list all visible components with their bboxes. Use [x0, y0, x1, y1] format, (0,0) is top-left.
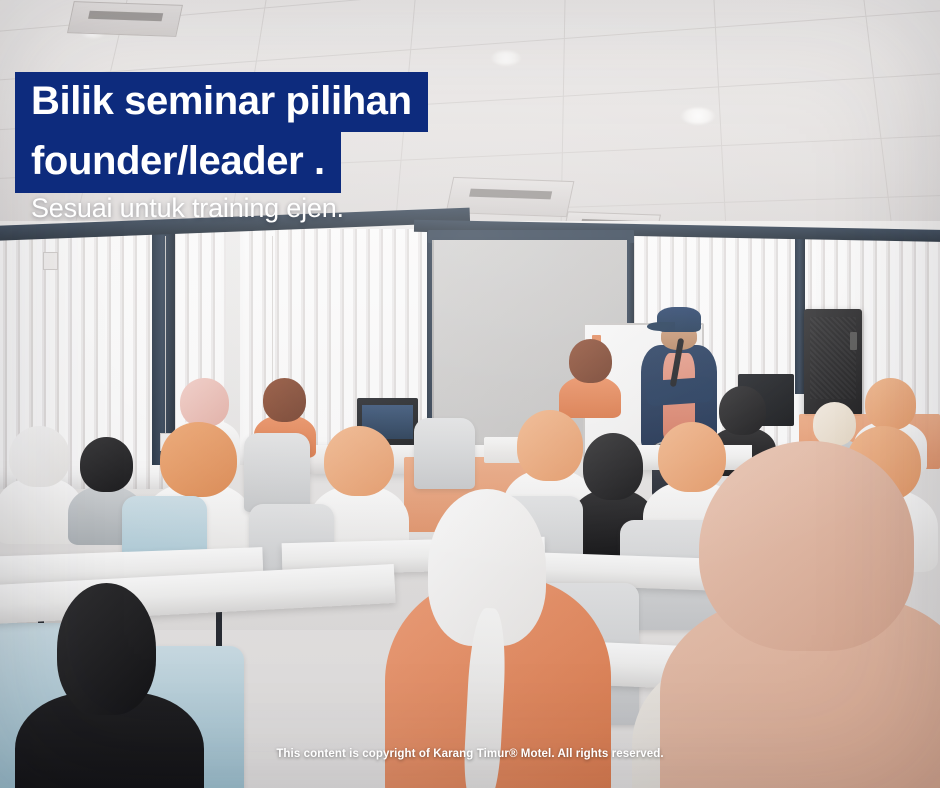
audience-member — [324, 426, 394, 544]
attendee-hijab — [160, 422, 237, 498]
foreground-attendee-right — [677, 441, 940, 788]
ceiling-downlight — [491, 51, 521, 65]
attendee-hijab — [80, 437, 133, 492]
attendee-hijab — [9, 426, 69, 487]
headline: Bilik seminar pilihan founder/leader . — [15, 72, 428, 193]
ceiling-downlight — [681, 108, 715, 124]
blind-cord — [165, 236, 166, 433]
copyright-notice: This content is copyright of Karang Timu… — [0, 748, 940, 760]
attendee-hijab — [517, 410, 583, 481]
presenter-cap — [657, 307, 702, 332]
foreground-attendee-center — [385, 489, 611, 788]
headline-line-2: founder/leader . — [15, 132, 341, 192]
ac-cassette-vent — [67, 1, 183, 37]
wall-switch — [43, 252, 58, 270]
child-head — [57, 583, 156, 715]
audience-member — [569, 339, 612, 410]
stacking-chair — [414, 418, 475, 489]
attendee-hijab — [263, 378, 306, 422]
attendee-hijab — [569, 339, 612, 383]
audience-member — [9, 426, 69, 528]
attendee-hijab — [699, 441, 913, 651]
attendee-hijab — [324, 426, 394, 497]
pa-speaker — [804, 309, 862, 416]
subheadline: Sesuai untuk training ejen. — [31, 193, 344, 224]
stacking-chair — [244, 433, 310, 512]
promo-banner: Bilik seminar pilihan founder/leader . S… — [0, 0, 940, 788]
attendee-hijab — [865, 378, 916, 429]
presenter-arm — [645, 377, 714, 406]
attendee-hijab — [180, 378, 229, 427]
attendee-hijab — [719, 386, 766, 435]
headline-line-1: Bilik seminar pilihan — [15, 72, 428, 132]
